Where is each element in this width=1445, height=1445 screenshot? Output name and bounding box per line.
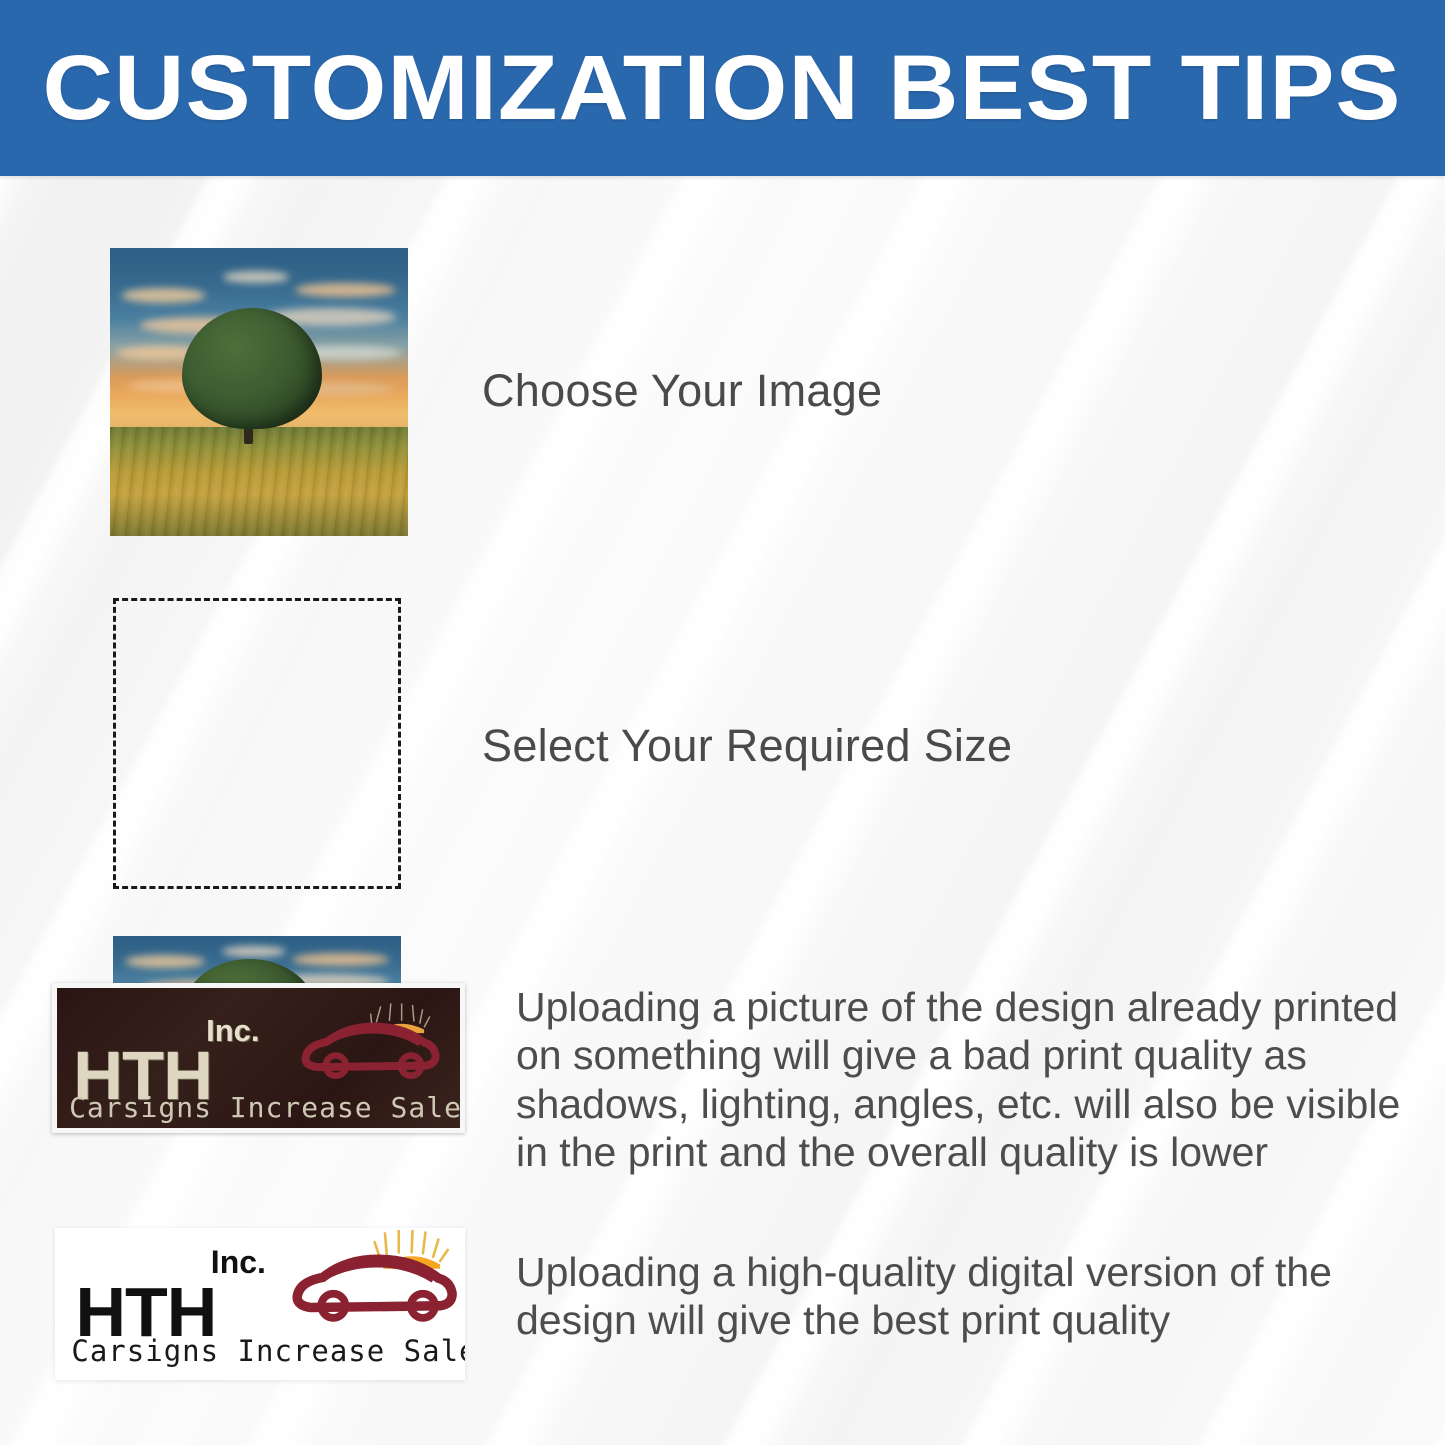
logo-inc-text: Inc. bbox=[211, 1246, 266, 1278]
wheat-field-layer bbox=[110, 427, 408, 536]
logo-tagline-text: Carsigns Increase Sales bbox=[71, 1337, 465, 1366]
step-label-choose-image: Choose Your Image bbox=[482, 365, 882, 417]
cloud bbox=[223, 271, 289, 283]
cloud bbox=[295, 283, 396, 297]
logo-inc-text: Inc. bbox=[206, 1015, 259, 1046]
step-label-bad-upload: Uploading a picture of the design alread… bbox=[516, 983, 1406, 1177]
car-icon bbox=[279, 1002, 456, 1089]
car-icon bbox=[281, 1230, 461, 1333]
dark-logo-artwork: HTH Inc. bbox=[57, 988, 460, 1128]
tree-canopy bbox=[182, 308, 322, 429]
cloud bbox=[122, 288, 205, 302]
step-label-select-size: Select Your Required Size bbox=[482, 720, 1012, 772]
cloud bbox=[222, 946, 285, 957]
light-logo-artwork: HTH Inc. bbox=[55, 1228, 465, 1380]
step-image-choose-image bbox=[110, 248, 408, 536]
step-image-digital-logo: HTH Inc. bbox=[55, 1228, 465, 1380]
step-label-good-upload: Uploading a high-quality digital version… bbox=[516, 1248, 1396, 1345]
size-selection-dashed-box[interactable] bbox=[113, 598, 401, 889]
step-image-printed-banner-photo: HTH Inc. bbox=[52, 983, 465, 1133]
page-title: CUSTOMIZATION BEST TIPS bbox=[43, 42, 1402, 134]
logo-tagline-text: Carsigns Increase Sales bbox=[69, 1094, 465, 1122]
header-banner: CUSTOMIZATION BEST TIPS bbox=[0, 0, 1445, 176]
tips-infographic: CUSTOMIZATION BEST TIPS Choose Your Imag… bbox=[0, 0, 1445, 1445]
